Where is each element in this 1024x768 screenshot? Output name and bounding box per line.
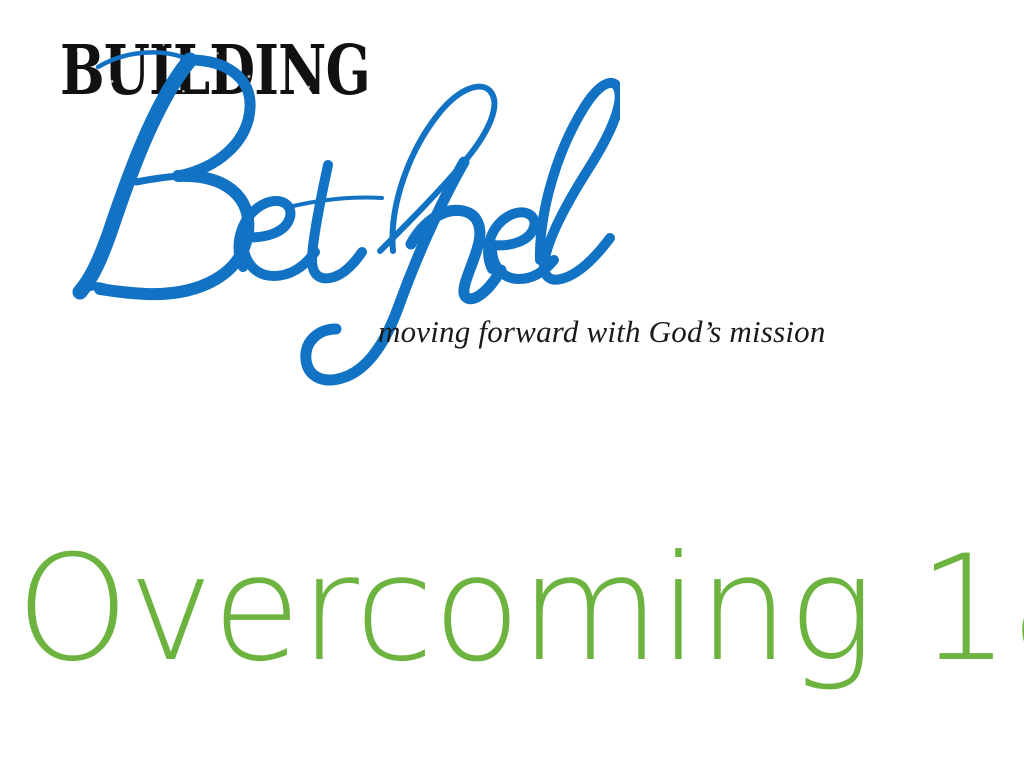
slide-headline: Overcoming 18″ [16, 536, 1001, 682]
presentation-slide: BUILDING Bethel [0, 0, 1024, 768]
logo-tagline: moving forward with God’s mission [378, 316, 826, 347]
building-bethel-logo: BUILDING Bethel [0, 0, 900, 400]
